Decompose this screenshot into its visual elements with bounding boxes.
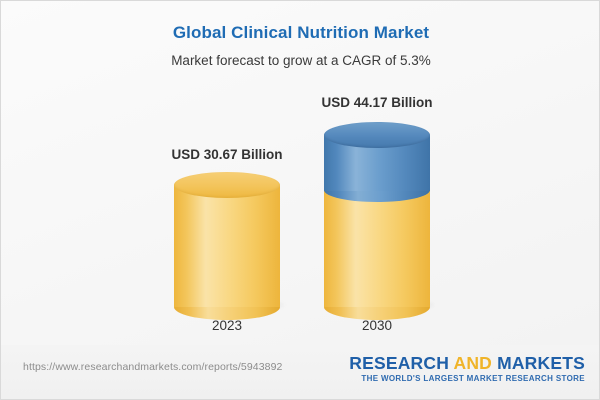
bar-top-cap-2023: [174, 172, 280, 198]
bar-cylinder-2030[interactable]: [324, 122, 430, 307]
footer: https://www.researchandmarkets.com/repor…: [1, 345, 600, 399]
brand-word-research: RESEARCH: [349, 353, 449, 373]
brand-tagline: THE WORLD'S LARGEST MARKET RESEARCH STOR…: [349, 373, 585, 384]
chart-card: Global Clinical Nutrition Market Market …: [0, 0, 600, 400]
bar-top-cap-2030: [324, 122, 430, 148]
brand-word-markets: MARKETS: [497, 353, 585, 373]
brand-logo[interactable]: RESEARCH AND MARKETS THE WORLD'S LARGEST…: [349, 353, 585, 384]
category-label-2030: 2030: [287, 318, 467, 333]
bar-segment-base-2023: [174, 185, 280, 307]
bar-cylinder-2023[interactable]: [174, 172, 280, 307]
brand-wordmark: RESEARCH AND MARKETS: [349, 353, 585, 373]
plot-area: USD 30.67 Billion 2023 USD 44.17 Billion…: [1, 1, 600, 346]
report-url[interactable]: https://www.researchandmarkets.com/repor…: [23, 361, 282, 373]
bar-segment-base-2030: [324, 189, 430, 307]
bar-value-label-2023: USD 30.67 Billion: [137, 147, 317, 162]
bar-value-label-2030: USD 44.17 Billion: [287, 95, 467, 110]
brand-word-and: AND: [453, 353, 492, 373]
